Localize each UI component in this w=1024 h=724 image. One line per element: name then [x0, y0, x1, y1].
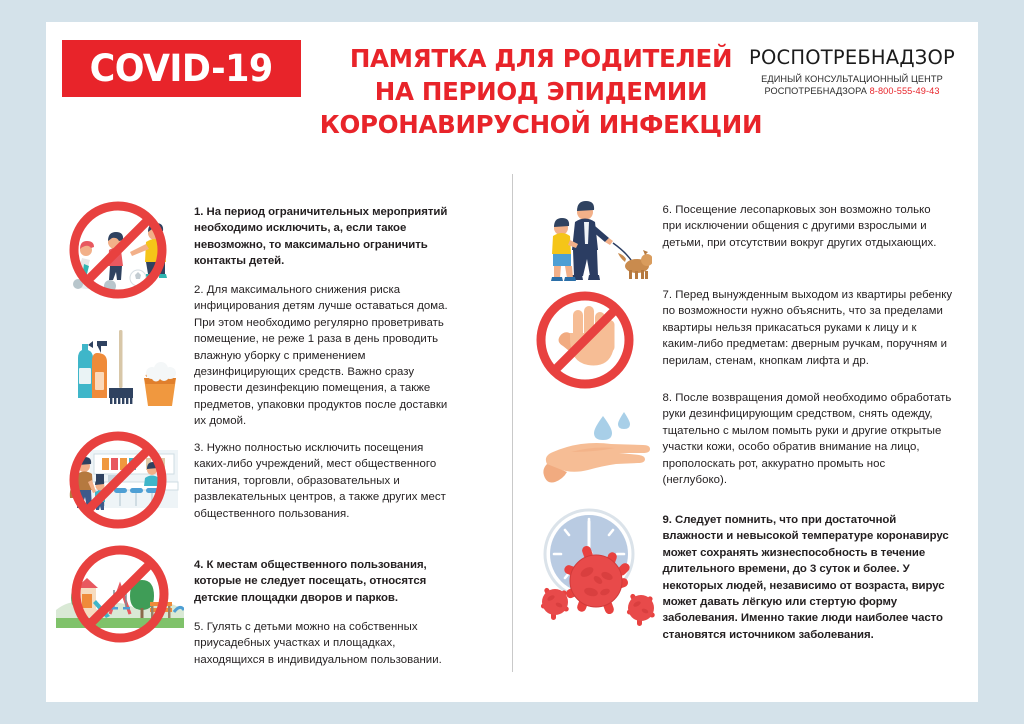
right-item-6-text: 6. Посещение лесопарковых зон возможно т…	[663, 202, 953, 251]
left-item-3-text: 3. Нужно полностью исключить посещения к…	[194, 440, 456, 522]
organization-name: РОСПОТРЕБНАДЗОР	[742, 46, 962, 69]
consultation-center-label: ЕДИНЫЙ КОНСУЛЬТАЦИОННЫЙ ЦЕНТР	[742, 74, 962, 84]
left-item-2-text: 2. Для максимального снижения риска инфи…	[194, 282, 462, 430]
left-item-4-text: 4. К местам общественного пользования, к…	[194, 557, 462, 606]
right-item-9-text: 9. Следует помнить, что при достаточной …	[663, 512, 951, 643]
page-title-line-1: ПАМЯТКА ДЛЯ РОДИТЕЛЕЙ	[316, 42, 766, 75]
page-title-line-2: НА ПЕРИОД ЭПИДЕМИИ	[316, 75, 766, 108]
left-item-1-text: 1. На период ограничительных мероприятий…	[194, 204, 459, 270]
right-column: 6. Посещение лесопарковых зон возможно т…	[513, 162, 979, 702]
family-walking-dog-icon	[527, 198, 652, 286]
no-touching-hand-icon	[525, 290, 643, 395]
consultation-center-line-2: РОСПОТРЕБНАДЗОРА 8-800-555-49-43	[742, 86, 962, 96]
left-item-5-text: 5. Гулять с детьми можно на собственных …	[194, 619, 462, 668]
page-title-line-3: КОРОНАВИРУСНОЙ ИНФЕКЦИИ	[316, 108, 766, 141]
poster-card: COVID-19 ПАМЯТКА ДЛЯ РОДИТЕЛЕЙ НА ПЕРИОД…	[46, 22, 978, 702]
poster-header: COVID-19 ПАМЯТКА ДЛЯ РОДИТЕЛЕЙ НА ПЕРИОД…	[46, 22, 978, 162]
cleaning-supplies-icon	[64, 320, 179, 415]
playground-prohibited-icon	[56, 544, 184, 644]
handwashing-icon	[531, 408, 651, 488]
public-places-prohibited-icon	[60, 430, 182, 530]
page-title: ПАМЯТКА ДЛЯ РОДИТЕЛЕЙ НА ПЕРИОД ЭПИДЕМИИ…	[316, 42, 766, 141]
clock-virus-icon	[523, 502, 658, 627]
poster-body: 1. На период ограничительных мероприятий…	[46, 162, 978, 702]
hotline-phone-number: 8-800-555-49-43	[870, 86, 940, 96]
rospotrebnadzor-logo-block: РОСПОТРЕБНАДЗОР ЕДИНЫЙ КОНСУЛЬТАЦИОННЫЙ …	[742, 46, 962, 96]
organization-genitive-label: РОСПОТРЕБНАДЗОРА	[764, 86, 866, 96]
covid-19-badge: COVID-19	[62, 40, 301, 97]
right-item-7-text: 7. Перед вынужденным выходом из квартиры…	[663, 287, 953, 369]
covid-19-badge-label: COVID-19	[90, 47, 273, 90]
children-playing-prohibited-icon	[60, 200, 180, 300]
left-column: 1. На период ограничительных мероприятий…	[46, 162, 512, 702]
right-item-8-text: 8. После возвращения домой необходимо об…	[663, 390, 953, 488]
